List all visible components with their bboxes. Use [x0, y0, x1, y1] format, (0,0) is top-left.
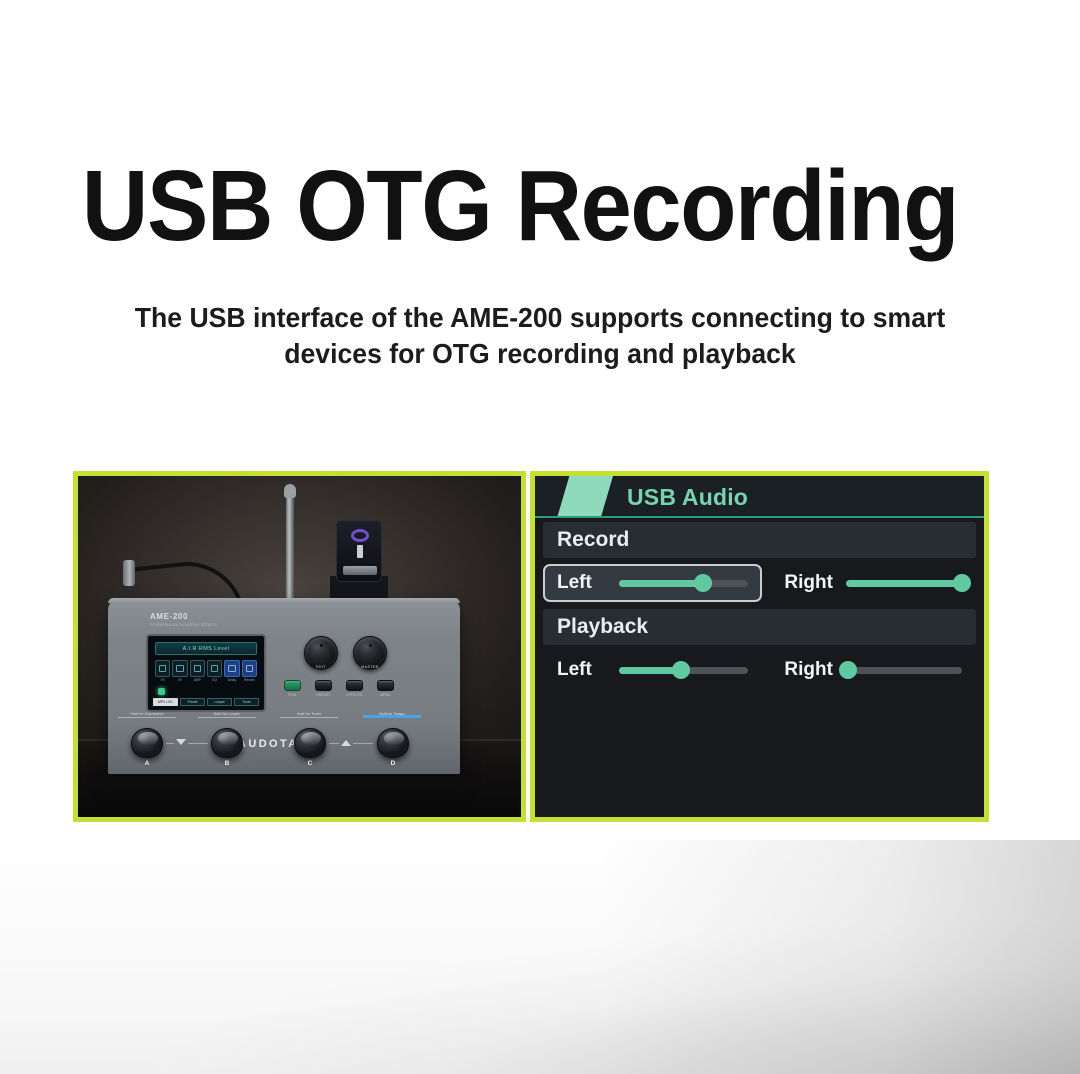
lcd-label-amp: AMP — [190, 678, 205, 682]
usb-dongle-icon — [336, 520, 382, 582]
panels-row: AME-200 Professional Amplifier Effects A… — [73, 471, 989, 822]
bottom-gradient-wash — [0, 830, 1080, 1074]
divider-line — [353, 743, 373, 744]
usb-audio-title: USB Audio — [627, 484, 748, 511]
playback-right-slider-track[interactable] — [846, 667, 962, 674]
brand-logo: AUDOTA — [238, 738, 299, 750]
footswitch-cap — [138, 732, 158, 745]
playback-left-slider-thumb[interactable] — [672, 661, 690, 679]
footswitch-b-label: B — [211, 760, 243, 767]
playback-left-slider-cell[interactable]: Left — [543, 651, 762, 689]
record-left-slider-cell[interactable]: Left — [543, 564, 762, 602]
menu-button-label: MENU — [377, 693, 394, 697]
lcd-label-eq: EQ — [207, 678, 222, 682]
lcd-status-tuner[interactable]: Tuner — [234, 698, 259, 706]
knob-indicator-icon — [369, 644, 372, 647]
lcd-icon-row — [155, 660, 257, 677]
playback-left-slider-track[interactable] — [619, 667, 748, 674]
footswitch-a[interactable] — [131, 728, 163, 758]
usb-audio-screen: USB Audio Record Left Right — [535, 476, 984, 817]
antenna-tip-icon — [284, 484, 296, 498]
bottom-gradient-wash-right — [600, 840, 1080, 1074]
antenna-icon — [286, 490, 294, 605]
playback-slider-row: Left Right — [543, 648, 976, 692]
divider-line — [329, 743, 339, 744]
playback-right-label: Right — [784, 659, 846, 681]
record-left-label: Left — [557, 572, 619, 594]
chevron-down-icon — [176, 739, 186, 745]
header-tab-shape-icon — [557, 476, 613, 518]
footswitch-strip-d: Hold for Tempo — [363, 710, 421, 718]
device-top-edge — [108, 598, 460, 603]
ame-200-device: AME-200 Professional Amplifier Effects A… — [108, 598, 460, 776]
device-base-shadow — [100, 774, 468, 790]
lcd-icon-reverb[interactable] — [242, 660, 257, 677]
lcd-status-bar: MP3 LOC Preset Looper Tuner — [153, 697, 259, 706]
record-slider-row: Left Right — [543, 561, 976, 605]
preset-button-label: PRESET — [315, 693, 332, 697]
dongle-pins-icon — [343, 566, 377, 575]
footswitch-cap — [384, 732, 404, 745]
page-subtitle: The USB interface of the AME-200 support… — [113, 300, 968, 372]
record-right-slider-cell[interactable]: Right — [770, 564, 976, 602]
effects-button[interactable] — [346, 680, 363, 691]
record-right-label: Right — [784, 572, 846, 594]
divider-line — [166, 743, 174, 744]
footswitch-strip-c: Hold for Tuner — [280, 710, 338, 718]
record-left-slider-fill — [619, 580, 703, 587]
lcd-icon-eq[interactable] — [207, 660, 222, 677]
footswitch-cap — [218, 732, 238, 745]
chevron-up-icon — [341, 740, 351, 746]
edit-knob-label: EDIT — [304, 665, 338, 669]
lcd-status-preset[interactable]: Preset — [180, 698, 205, 706]
lcd-label-ir: IR — [172, 678, 187, 682]
lcd-label-delay: Delay — [224, 678, 239, 682]
footswitch-a-label: A — [131, 760, 163, 767]
footswitch-c-label: C — [294, 760, 326, 767]
page-title: USB OTG Recording — [42, 152, 999, 260]
divider-line — [188, 743, 208, 744]
photo-scene: AME-200 Professional Amplifier Effects A… — [78, 476, 521, 817]
record-right-slider-track[interactable] — [846, 580, 962, 587]
lcd-icon-labels: FX IR AMP EQ Delay Reverb — [155, 678, 257, 682]
play-button[interactable] — [284, 680, 301, 691]
lcd-status-led-icon — [158, 688, 165, 695]
preset-button[interactable] — [315, 680, 332, 691]
lcd-icon-delay[interactable] — [224, 660, 239, 677]
lcd-label-reverb: Reverb — [242, 678, 257, 682]
footswitch-cap — [301, 732, 321, 745]
dongle-slot-icon — [357, 545, 363, 558]
footswitch-strip-b: Hold for Looper — [198, 710, 256, 718]
master-knob-label: MASTER — [353, 665, 387, 669]
record-left-slider-thumb[interactable] — [694, 574, 712, 592]
lcd-icon-fx[interactable] — [155, 660, 170, 677]
device-model-sublabel: Professional Amplifier Effects — [150, 622, 217, 627]
record-right-slider-fill — [846, 580, 962, 587]
play-button-label: PLAY — [284, 693, 301, 697]
footswitch-c[interactable] — [294, 728, 326, 758]
effects-button-label: EFFECTS — [346, 693, 363, 697]
record-section-header: Record — [543, 522, 976, 558]
knob-indicator-icon — [320, 644, 323, 647]
lcd-status-mp3[interactable]: MP3 LOC — [153, 698, 178, 706]
usb-audio-screen-panel: USB Audio Record Left Right — [530, 471, 989, 822]
menu-button[interactable] — [377, 680, 394, 691]
lcd-status-looper[interactable]: Looper — [207, 698, 232, 706]
device-lcd-screen: A.I.R RMS Level FX IR AMP EQ — [146, 634, 266, 712]
footswitch-d[interactable] — [377, 728, 409, 758]
usb-audio-body: Record Left Right — [535, 522, 984, 692]
footswitch-d-label: D — [377, 760, 409, 767]
device-model-label: AME-200 — [150, 612, 188, 621]
playback-right-slider-cell[interactable]: Right — [770, 651, 976, 689]
record-right-slider-thumb[interactable] — [953, 574, 971, 592]
record-left-slider-track[interactable] — [619, 580, 748, 587]
lcd-icon-ir[interactable] — [172, 660, 187, 677]
lcd-label-fx: FX — [155, 678, 170, 682]
lcd-icon-amp[interactable] — [190, 660, 205, 677]
usb-audio-header: USB Audio — [535, 476, 984, 518]
cable-plug-icon — [123, 560, 135, 586]
playback-right-slider-thumb[interactable] — [839, 661, 857, 679]
playback-section-header: Playback — [543, 609, 976, 645]
hardware-photo-panel: AME-200 Professional Amplifier Effects A… — [73, 471, 526, 822]
playback-left-label: Left — [557, 659, 619, 681]
footswitch-b[interactable] — [211, 728, 243, 758]
lcd-title-bar: A.I.R RMS Level — [155, 642, 257, 655]
dongle-ring-icon — [351, 529, 369, 542]
footswitch-strip-a: Hold for Expression — [118, 710, 176, 718]
